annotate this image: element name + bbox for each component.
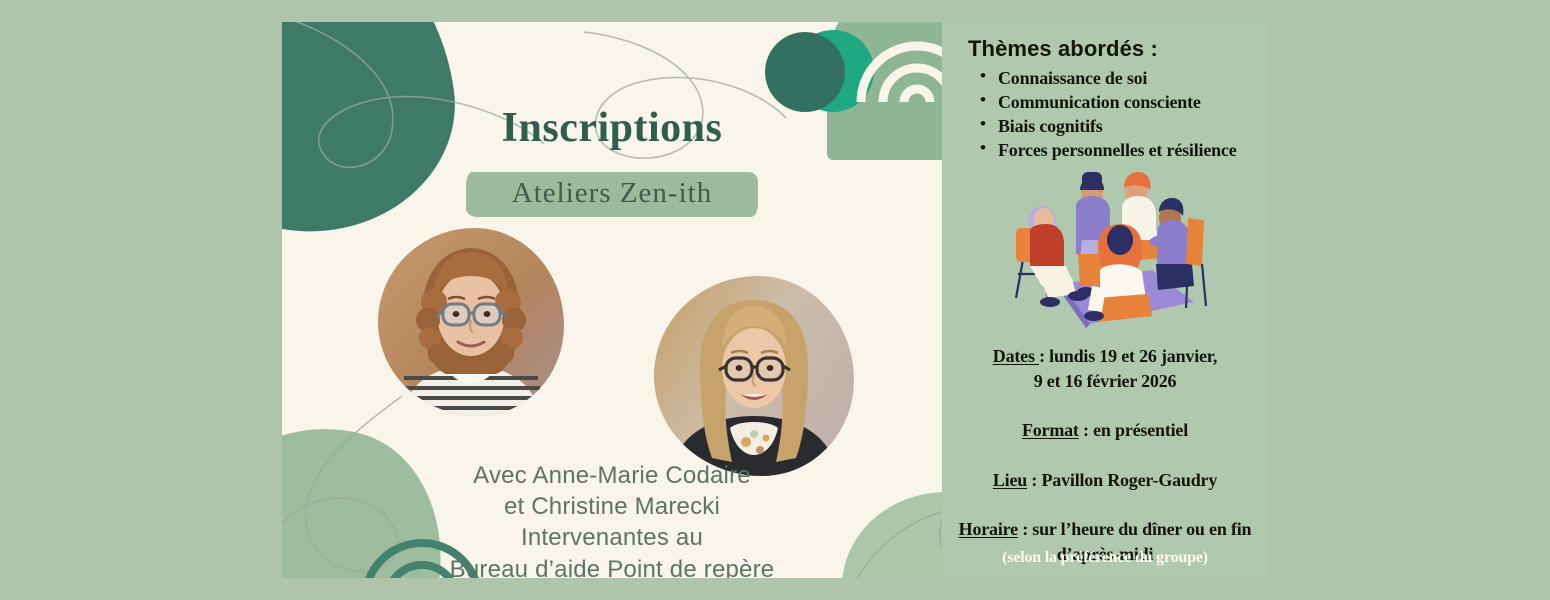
detail-format-line: Format : en présentiel [950,418,1260,443]
poster-root: Inscriptions Ateliers Zen-ith [0,0,1550,600]
detail-format-value: en présentiel [1093,420,1188,440]
theme-item: Communication consciente [980,90,1262,114]
theme-item: Forces personnelles et résilience [980,138,1262,162]
detail-lieu-line: Lieu : Pavillon Roger-Gaudry [950,468,1260,493]
detail-dates-value-1: lundis 19 et 26 janvier, [1049,346,1217,366]
detail-lieu-value: Pavillon Roger-Gaudry [1042,470,1218,490]
detail-horaire-note: (selon la préférence du groupe) [950,549,1260,567]
detail-format-label: Format [1022,420,1079,440]
poster-left-panel: Inscriptions Ateliers Zen-ith [282,22,942,578]
detail-lieu: Lieu : Pavillon Roger-Gaudry [950,468,1260,493]
detail-dates-separator: : [1039,346,1049,366]
detail-dates-line-2: 9 et 16 février 2026 [950,369,1260,394]
detail-horaire-separator: : [1018,519,1032,539]
presenter-line-1: Avec Anne-Marie Codaire [282,460,942,491]
left-panel-content: Inscriptions Ateliers Zen-ith [282,22,942,578]
details-list: Dates : lundis 19 et 26 janvier, 9 et 16… [950,344,1260,578]
detail-horaire-label: Horaire [959,519,1018,539]
detail-lieu-label: Lieu [993,470,1027,490]
detail-horaire: Horaire : sur l’heure du dîner ou en fin… [950,517,1260,567]
presenter-line-2: et Christine Marecki [282,491,942,522]
detail-lieu-separator: : [1027,470,1041,490]
photo-anne-marie-codaire [378,228,564,416]
detail-format: Format : en présentiel [950,418,1260,443]
detail-format-separator: : [1079,420,1093,440]
presenter-line-3: Intervenantes au [282,522,942,553]
presenter-photos [282,220,942,450]
poster-title: Inscriptions [282,104,942,152]
poster-subtitle: Ateliers Zen-ith [512,177,712,209]
group-circle-illustration [1002,162,1212,332]
detail-dates: Dates : lundis 19 et 26 janvier, 9 et 16… [950,344,1260,394]
poster-right-panel: Thèmes abordés : Connaissance de soi Com… [942,22,1268,578]
photo-christine-marecki [654,276,854,476]
theme-item: Connaissance de soi [980,66,1262,90]
theme-item: Biais cognitifs [980,114,1262,138]
detail-horaire-line-1: Horaire : sur l’heure du dîner ou en fin [950,517,1260,542]
poster-card: Inscriptions Ateliers Zen-ith [282,22,1268,578]
brush-stroke-highlight: Ateliers Zen-ith [466,170,758,219]
presenter-line-4: Bureau d’aide Point de repère [282,554,942,578]
themes-list: Connaissance de soi Communication consci… [980,66,1262,162]
detail-dates-line-1: Dates : lundis 19 et 26 janvier, [950,344,1260,369]
themes-heading: Thèmes abordés : [968,36,1158,62]
presenters-text: Avec Anne-Marie Codaire et Christine Mar… [282,460,942,578]
detail-horaire-value-1: sur l’heure du dîner ou en fin [1032,519,1251,539]
detail-dates-label: Dates [993,346,1039,366]
